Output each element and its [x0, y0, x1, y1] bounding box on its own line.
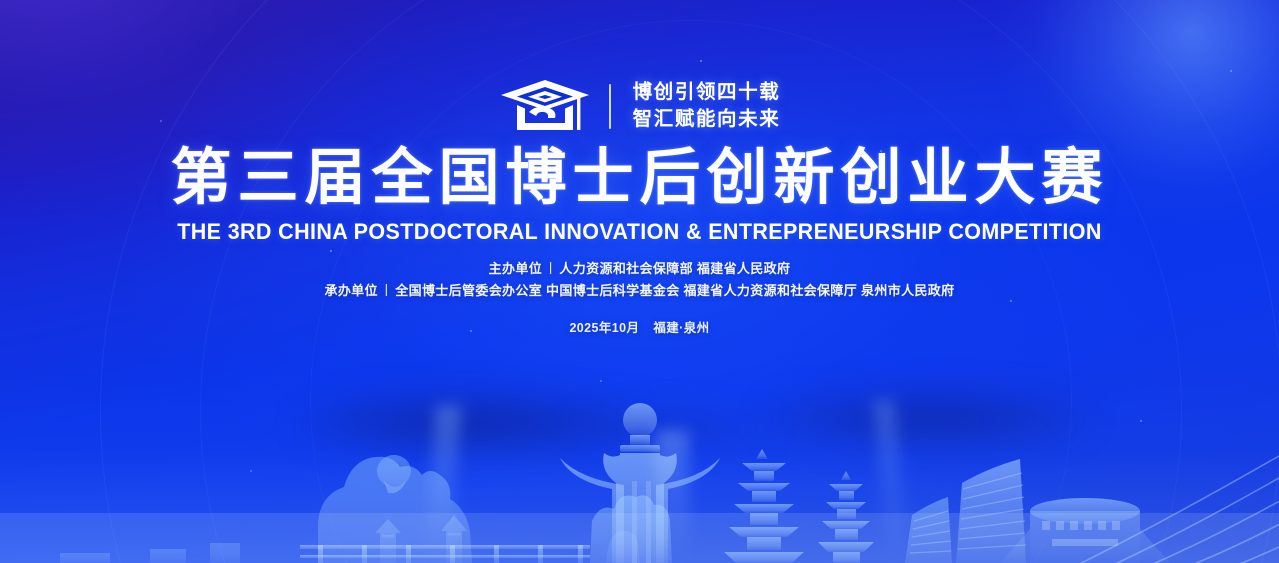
- host-label: 主办单位: [489, 261, 542, 276]
- host-separator: 丨: [544, 261, 557, 276]
- organizer-separator: 丨: [380, 283, 393, 298]
- host-list: 人力资源和社会保障部 福建省人民政府: [559, 261, 790, 276]
- event-poster: 博创引领四十载 智汇赋能向未来 第三届全国博士后创新创业大赛 THE 3RD C…: [0, 0, 1279, 563]
- organizer-label: 承办单位: [324, 283, 377, 298]
- lockup-divider: [609, 84, 611, 129]
- organizer-list: 全国博士后管委会办公室 中国博士后科学基金会 福建省人力资源和社会保障厅 泉州市…: [395, 283, 954, 298]
- date-location-bar: 2025年10月福建·泉州: [0, 317, 1279, 336]
- slogan-block: 博创引领四十载 智汇赋能向未来: [633, 82, 781, 131]
- organizer-organizations-line: 承办单位丨全国博士后管委会办公室 中国博士后科学基金会 福建省人力资源和社会保障…: [0, 284, 1279, 297]
- graduation-cap-logo: [499, 78, 591, 134]
- slogan-line-2: 智汇赋能向未来: [633, 109, 781, 131]
- slogan-line-1: 博创引领四十载: [633, 82, 781, 104]
- logo-lockup: 博创引领四十载 智汇赋能向未来: [0, 78, 1279, 134]
- host-organizations-line: 主办单位丨人力资源和社会保障部 福建省人民政府: [0, 262, 1279, 275]
- event-location: 福建·泉州: [653, 321, 709, 335]
- page-title-chinese: 第三届全国博士后创新创业大赛: [0, 147, 1279, 208]
- page-title-english: THE 3RD CHINA POSTDOCTORAL INNOVATION & …: [29, 221, 1250, 244]
- event-date: 2025年10月: [569, 321, 639, 335]
